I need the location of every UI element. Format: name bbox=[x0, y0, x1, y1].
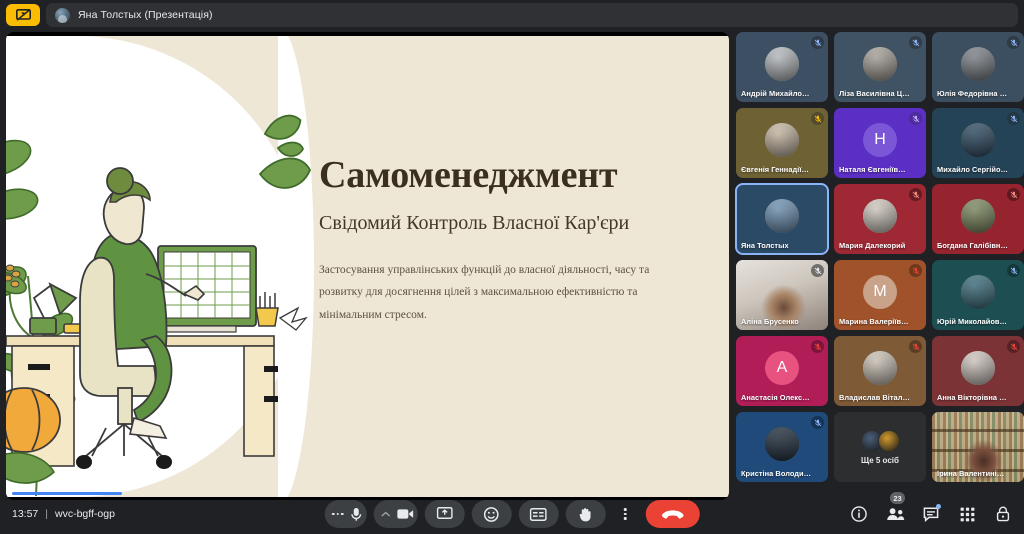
participant-name: Наталя Євгеніївна Нов... bbox=[839, 165, 910, 174]
mic-muted-icon bbox=[909, 36, 922, 49]
participant-tile[interactable]: Михайло Сергійович ... bbox=[932, 108, 1024, 178]
mic-muted-icon bbox=[811, 36, 824, 49]
participant-name: Анна Вікторівна Шевч... bbox=[937, 393, 1008, 402]
presenter-label: Яна Толстых (Презентація) bbox=[78, 9, 213, 21]
participant-tile[interactable]: ММарина Валеріївна З... bbox=[834, 260, 926, 330]
overflow-participants-tile[interactable]: Ще 5 осіб bbox=[834, 412, 926, 482]
present-button[interactable] bbox=[424, 500, 464, 528]
reactions-button[interactable] bbox=[471, 500, 511, 528]
participant-tile[interactable]: Андрій Михайлович К... bbox=[736, 32, 828, 102]
mic-muted-icon bbox=[811, 416, 824, 429]
participant-name: Михайло Сергійович ... bbox=[937, 165, 1008, 174]
mic-muted-icon bbox=[811, 264, 824, 277]
participant-name: Ірина Валентинівна ... bbox=[937, 469, 1008, 478]
chat-unread-dot bbox=[936, 504, 941, 509]
mic-muted-icon bbox=[811, 112, 824, 125]
participant-tile[interactable]: Анна Вікторівна Шевч... bbox=[932, 336, 1024, 406]
avatar-monogram: А bbox=[765, 351, 799, 385]
more-vertical-icon bbox=[624, 508, 627, 520]
call-controls bbox=[325, 500, 700, 528]
participant-tile[interactable]: Аліна Брусенко bbox=[736, 260, 828, 330]
participant-name: Кристіна Володимирі... bbox=[741, 469, 812, 478]
participant-name: Юлія Федорівна Дем... bbox=[937, 89, 1008, 98]
participant-name: Богдана Галібівна Зд... bbox=[937, 241, 1008, 250]
avatar bbox=[863, 47, 897, 81]
participant-tile[interactable]: ААнастасія Олександр... bbox=[736, 336, 828, 406]
participant-name: Марина Валеріївна З... bbox=[839, 317, 910, 326]
participant-tile[interactable]: ННаталя Євгеніївна Нов... bbox=[834, 108, 926, 178]
camera-icon bbox=[396, 508, 413, 520]
people-icon[interactable]: 23 bbox=[884, 503, 906, 525]
mic-muted-icon bbox=[909, 264, 922, 277]
mic-muted-icon bbox=[1007, 188, 1020, 201]
participant-name: Андрій Михайлович К... bbox=[741, 89, 812, 98]
avatar bbox=[863, 351, 897, 385]
participant-name: Яна Толстых bbox=[741, 241, 812, 250]
participant-tile[interactable]: Юлія Федорівна Дем... bbox=[932, 32, 1024, 102]
mic-button[interactable] bbox=[325, 500, 367, 528]
participant-tile[interactable]: Ліза Василівна Цілуй... bbox=[834, 32, 926, 102]
meeting-time: 13:57 bbox=[12, 508, 38, 520]
slide-title: Самоменеджмент bbox=[319, 156, 699, 196]
mic-muted-icon bbox=[909, 188, 922, 201]
avatar-monogram: М bbox=[863, 275, 897, 309]
participant-name: Аліна Брусенко bbox=[741, 317, 812, 326]
mic-muted-icon bbox=[909, 112, 922, 125]
google-meet-window: Яна Толстых (Презентація) bbox=[0, 0, 1024, 534]
participant-name: Анастасія Олександр... bbox=[741, 393, 812, 402]
activities-icon[interactable] bbox=[956, 503, 978, 525]
avatar bbox=[961, 123, 995, 157]
avatar bbox=[961, 275, 995, 309]
avatar bbox=[55, 8, 70, 23]
host-controls-icon[interactable] bbox=[992, 503, 1014, 525]
emoji-icon bbox=[484, 507, 499, 522]
more-options-button[interactable] bbox=[612, 500, 638, 528]
chat-icon[interactable] bbox=[920, 503, 942, 525]
participant-tile[interactable]: Ірина Валентинівна ... bbox=[932, 412, 1024, 482]
slide-text-block: Самоменеджмент Свідомий Контроль Власної… bbox=[319, 156, 699, 327]
chevron-up-icon bbox=[380, 511, 390, 518]
microphone-icon bbox=[349, 507, 362, 522]
avatar bbox=[878, 430, 900, 452]
participant-name: Ліза Василівна Цілуй... bbox=[839, 89, 910, 98]
more-horizontal-icon bbox=[332, 513, 344, 516]
participant-tile[interactable]: Богдана Галібівна Зд... bbox=[932, 184, 1024, 254]
overflow-label: Ще 5 осіб bbox=[861, 456, 899, 465]
avatar-monogram: Н bbox=[863, 123, 897, 157]
participant-name: Євгенія Геннадіївна Ів... bbox=[741, 165, 812, 174]
present-screen-icon bbox=[436, 507, 452, 521]
mic-muted-icon bbox=[1007, 340, 1020, 353]
participant-name: Мария Далекорий bbox=[839, 241, 910, 250]
captions-icon bbox=[530, 508, 547, 521]
bottom-bar: 13:57 | wvc-bgff-ogp bbox=[0, 494, 1024, 534]
participant-tile[interactable]: Мария Далекорий bbox=[834, 184, 926, 254]
participant-grid: Андрій Михайлович К...Ліза Василівна Ціл… bbox=[736, 32, 1024, 494]
avatar bbox=[961, 199, 995, 233]
avatar bbox=[961, 351, 995, 385]
meeting-details-icon[interactable] bbox=[848, 503, 870, 525]
presentation-stage[interactable]: Самоменеджмент Свідомий Контроль Власної… bbox=[6, 32, 729, 500]
divider: | bbox=[45, 508, 48, 520]
participant-tile[interactable]: Яна Толстых bbox=[736, 184, 828, 254]
right-icon-group: 23 bbox=[848, 503, 1014, 525]
woman-at-desk-with-plants-illustration bbox=[6, 36, 316, 497]
slide-subtitle: Свідомий Контроль Власної Кар'єри bbox=[319, 210, 699, 236]
participant-tile[interactable]: Кристіна Володимирі... bbox=[736, 412, 828, 482]
mic-muted-icon bbox=[1007, 264, 1020, 277]
phone-hangup-icon bbox=[661, 509, 683, 520]
mic-muted-icon bbox=[1007, 36, 1020, 49]
raise-hand-button[interactable] bbox=[565, 500, 605, 528]
present-screen-icon[interactable] bbox=[6, 4, 40, 26]
hand-icon bbox=[578, 507, 592, 522]
participant-tile[interactable]: Євгенія Геннадіївна Ів... bbox=[736, 108, 828, 178]
avatar bbox=[765, 427, 799, 461]
mic-muted-icon bbox=[811, 340, 824, 353]
mic-muted-icon bbox=[1007, 112, 1020, 125]
avatar bbox=[765, 199, 799, 233]
avatar bbox=[765, 123, 799, 157]
overflow-avatars bbox=[861, 430, 900, 452]
presenter-chip[interactable]: Яна Толстых (Презентація) bbox=[46, 3, 1018, 27]
participant-tile[interactable]: Владислав Віталійов... bbox=[834, 336, 926, 406]
participant-tile[interactable]: Юрій Миколайович Д... bbox=[932, 260, 1024, 330]
avatar bbox=[863, 199, 897, 233]
meeting-code: wvc-bgff-ogp bbox=[55, 508, 115, 520]
participant-name: Юрій Миколайович Д... bbox=[937, 317, 1008, 326]
captions-button[interactable] bbox=[518, 500, 558, 528]
avatar bbox=[961, 47, 995, 81]
meeting-info: 13:57 | wvc-bgff-ogp bbox=[12, 508, 115, 520]
participant-count-badge: 23 bbox=[890, 492, 905, 504]
slide: Самоменеджмент Свідомий Контроль Власної… bbox=[6, 36, 729, 497]
camera-button[interactable] bbox=[373, 500, 417, 528]
slide-body-text: Застосування управлінських функцій до вл… bbox=[319, 259, 683, 326]
mic-muted-icon bbox=[909, 340, 922, 353]
avatar bbox=[765, 47, 799, 81]
top-bar: Яна Толстых (Презентація) bbox=[0, 0, 1024, 30]
hangup-button[interactable] bbox=[645, 500, 699, 528]
participant-name: Владислав Віталійов... bbox=[839, 393, 910, 402]
